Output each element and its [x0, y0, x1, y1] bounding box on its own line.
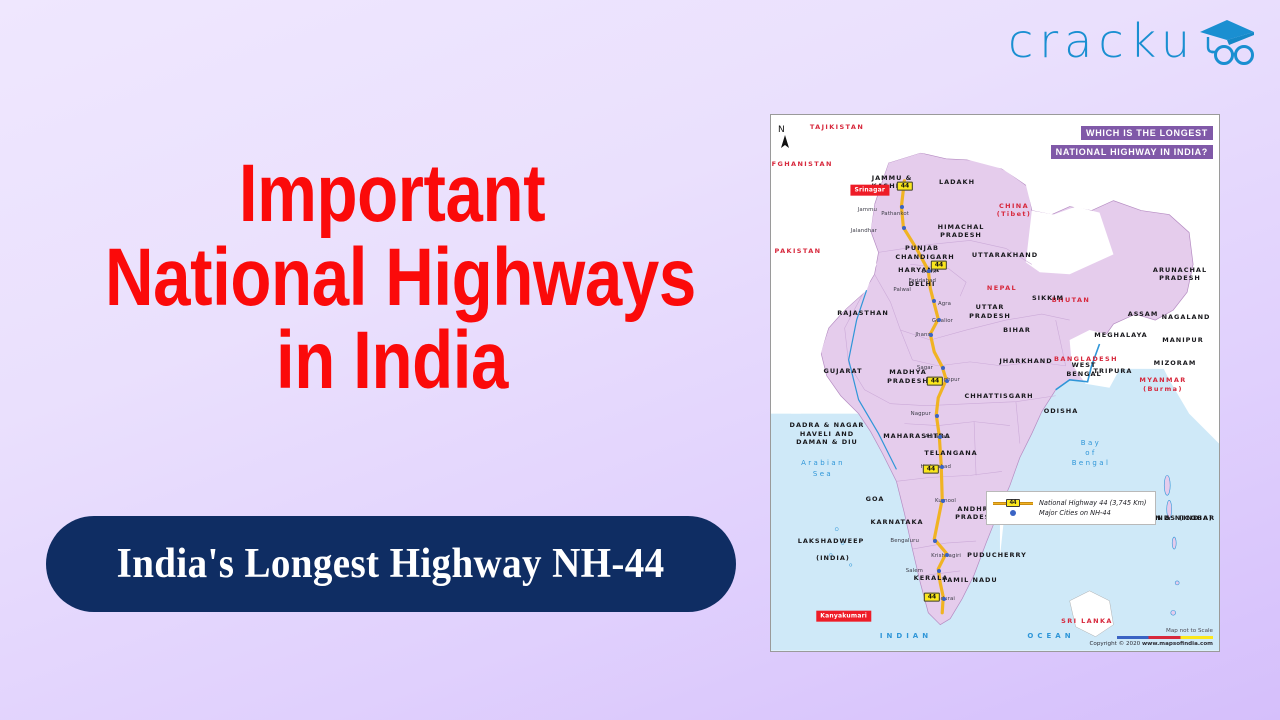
major-city-dot-9 — [938, 435, 942, 439]
brand-logo[interactable]: cracku — [1008, 14, 1258, 68]
map-geography — [771, 115, 1219, 651]
map-copyright: Copyright © 2020 www.mapsofindia.com — [1090, 641, 1214, 647]
major-city-dot-1 — [902, 226, 906, 230]
major-city-dot-5 — [929, 333, 933, 337]
title-line-2: National Highways — [105, 236, 679, 320]
major-city-dot-6 — [941, 366, 945, 370]
map-legend: 44 National Highway 44 (3,745 Km) Major … — [986, 491, 1156, 525]
major-city-dot-15 — [942, 597, 946, 601]
major-city-dot-10 — [940, 465, 944, 469]
legend-label-highway: National Highway 44 (3,745 Km) — [1039, 499, 1147, 507]
map-title-line-2: NATIONAL HIGHWAY IN INDIA? — [1051, 145, 1213, 159]
title-line-1: Important — [105, 152, 679, 236]
map-title: WHICH IS THE LONGEST NATIONAL HIGHWAY IN… — [1051, 123, 1213, 161]
major-city-dot-0 — [900, 205, 904, 209]
legend-shield-label: 44 — [1006, 499, 1021, 507]
brand-name: cracku — [1008, 18, 1196, 64]
scale-note: Map not to Scale — [1090, 628, 1214, 634]
major-city-dot-4 — [937, 318, 941, 322]
legend-label-cities: Major Cities on NH-44 — [1039, 509, 1111, 517]
copyright-site: www.mapsofindia.com — [1142, 641, 1213, 647]
highway-44-key-icon: 44 — [993, 499, 1033, 507]
scale-bar — [1117, 636, 1213, 639]
major-city-dot-8 — [935, 414, 939, 418]
page-title: Important National Highways in India — [105, 152, 679, 403]
title-line-3: in India — [105, 319, 679, 403]
major-city-dot-3 — [932, 299, 936, 303]
legend-row-cities: Major Cities on NH-44 — [993, 509, 1149, 517]
major-city-dot-icon — [993, 510, 1033, 516]
legend-row-highway: 44 National Highway 44 (3,745 Km) — [993, 499, 1149, 507]
major-city-dot-12 — [933, 539, 937, 543]
graduation-cap-glasses-icon — [1196, 16, 1258, 68]
major-city-dot-2 — [927, 269, 931, 273]
map-title-line-1: WHICH IS THE LONGEST — [1081, 126, 1213, 140]
major-city-dot-11 — [941, 499, 945, 503]
major-city-dot-13 — [945, 553, 949, 557]
copyright-prefix: Copyright © 2020 — [1090, 641, 1143, 647]
compass-north-icon: N — [777, 123, 793, 149]
india-highway-map: N WHICH IS THE LONGEST NATIONAL HIGHWAY … — [770, 114, 1220, 652]
svg-text:N: N — [778, 125, 785, 135]
map-footer: Map not to Scale Copyright © 2020 www.ma… — [1090, 628, 1214, 647]
major-city-dot-7 — [945, 379, 949, 383]
subtitle-text: India's Longest Highway NH-44 — [117, 540, 665, 588]
subtitle-banner: India's Longest Highway NH-44 — [46, 516, 736, 612]
major-city-dot-14 — [937, 569, 941, 573]
